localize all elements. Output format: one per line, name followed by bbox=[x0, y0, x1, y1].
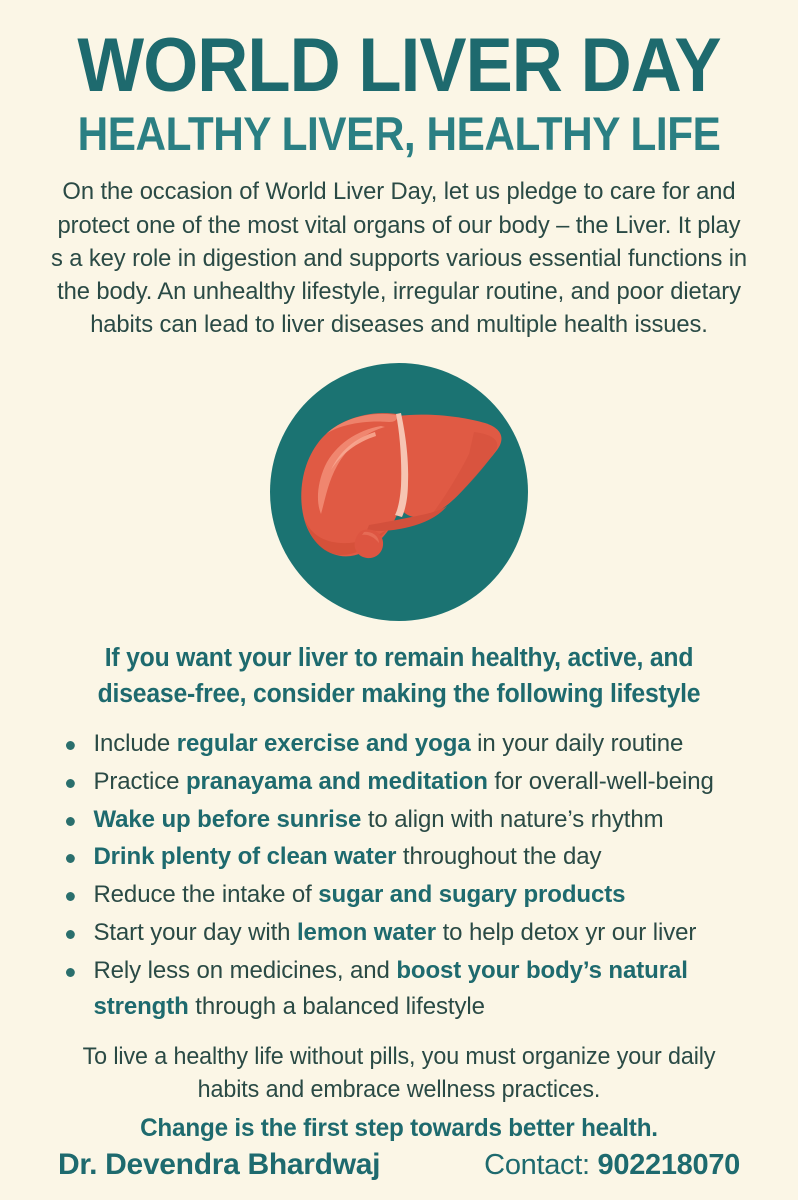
bullet-dot-icon bbox=[66, 779, 75, 788]
tip-text-post: in your daily routine bbox=[471, 730, 684, 757]
liver-illustration bbox=[269, 362, 529, 622]
poster-footer: Dr. Devendra Bhardwaj Contact: 902218070 bbox=[0, 1148, 798, 1182]
bullet-dot-icon bbox=[66, 741, 75, 750]
list-item: Wake up before sunrise to align with nat… bbox=[66, 802, 783, 839]
tip-text-emphasis: lemon water bbox=[297, 919, 436, 946]
tip-text-emphasis: sugar and sugary products bbox=[318, 881, 625, 908]
intro-paragraph: On the occasion of World Liver Day, let … bbox=[50, 175, 748, 342]
tip-text-pre: Include bbox=[93, 730, 176, 757]
list-item: Reduce the intake of sugar and sugary pr… bbox=[66, 877, 783, 914]
change-statement: Change is the first step towards better … bbox=[12, 1114, 786, 1143]
tip-text-post: to help detox yr our liver bbox=[436, 919, 696, 946]
bullet-dot-icon bbox=[66, 817, 75, 826]
tip-text-emphasis: regular exercise and yoga bbox=[177, 730, 471, 757]
tip-text-pre: Practice bbox=[93, 768, 186, 795]
lifestyle-tips-list: Include regular exercise and yoga in you… bbox=[0, 726, 798, 1026]
tip-text-emphasis: Drink plenty of clean water bbox=[93, 843, 396, 870]
tip-text-pre: Rely less on medicines, and bbox=[93, 957, 396, 984]
bullet-dot-icon bbox=[66, 892, 75, 901]
list-item: Practice pranayama and meditation for ov… bbox=[66, 764, 783, 801]
tip-text-pre: Reduce the intake of bbox=[93, 881, 318, 908]
contact-number[interactable]: 902218070 bbox=[598, 1149, 740, 1181]
world-liver-day-poster: WORLD LIVER DAY HEALTHY LIVER, HEALTHY L… bbox=[0, 0, 798, 1200]
tip-text-post: through a balanced lifestyle bbox=[189, 993, 485, 1020]
list-item: Start your day with lemon water to help … bbox=[66, 915, 783, 952]
lifestyle-heading: If you want your liver to remain healthy… bbox=[60, 640, 739, 712]
bullet-dot-icon bbox=[66, 930, 75, 939]
contact-info: Contact: 902218070 bbox=[484, 1149, 740, 1182]
list-item: Include regular exercise and yoga in you… bbox=[66, 726, 783, 763]
tip-text-post: for overall-well-being bbox=[488, 768, 714, 795]
list-item: Rely less on medicines, and boost your b… bbox=[66, 953, 783, 1027]
tip-text-post: throughout the day bbox=[396, 843, 601, 870]
page-subtitle: HEALTHY LIVER, HEALTHY LIFE bbox=[40, 110, 758, 157]
doctor-name: Dr. Devendra Bhardwaj bbox=[58, 1148, 380, 1182]
tip-text-post: to align with nature’s rhythm bbox=[361, 806, 663, 833]
tip-text-emphasis: Wake up before sunrise bbox=[93, 806, 361, 833]
tip-text-emphasis: pranayama and meditation bbox=[186, 768, 488, 795]
closing-paragraph: To live a healthy life without pills, yo… bbox=[55, 1040, 744, 1106]
page-title: WORLD LIVER DAY bbox=[28, 30, 770, 102]
contact-label: Contact: bbox=[484, 1149, 597, 1181]
list-item: Drink plenty of clean water throughout t… bbox=[66, 839, 783, 876]
tip-text-pre: Start your day with bbox=[93, 919, 297, 946]
bullet-dot-icon bbox=[66, 968, 75, 977]
bullet-dot-icon bbox=[66, 854, 75, 863]
illustration-container bbox=[0, 362, 798, 622]
poster-header: WORLD LIVER DAY HEALTHY LIVER, HEALTHY L… bbox=[0, 0, 798, 157]
